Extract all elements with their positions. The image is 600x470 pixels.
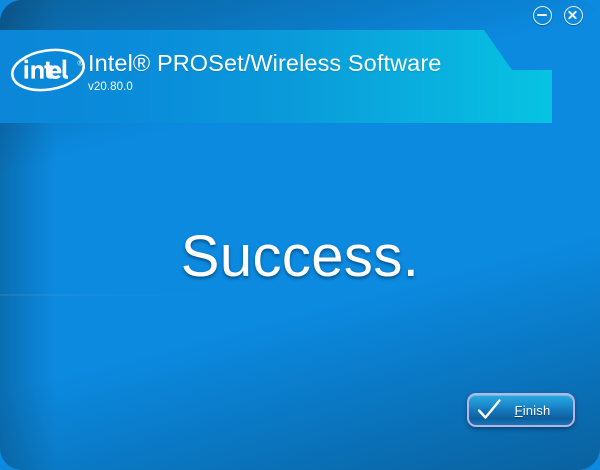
finish-accel-key: F [515, 403, 523, 418]
close-icon[interactable] [564, 6, 583, 25]
finish-label-rest: inish [523, 403, 551, 418]
version-label: v20.80.0 [88, 79, 441, 95]
checkmark-icon [476, 398, 502, 422]
finish-button[interactable]: Finish [467, 393, 575, 427]
header-content: ® Intel® PROSet/Wireless Software v20.80… [0, 30, 552, 123]
minimize-icon[interactable] [533, 6, 552, 25]
intel-logo-icon: ® [9, 47, 89, 93]
installer-window: ® Intel® PROSet/Wireless Software v20.80… [0, 0, 600, 470]
finish-button-label: Finish [502, 403, 567, 418]
svg-text:®: ® [78, 60, 84, 68]
brand-text-block: Intel® PROSet/Wireless Software v20.80.0 [88, 48, 441, 95]
page-title: Intel® PROSet/Wireless Software [88, 48, 441, 78]
status-message: Success. [0, 223, 600, 290]
title-bar [0, 0, 600, 31]
